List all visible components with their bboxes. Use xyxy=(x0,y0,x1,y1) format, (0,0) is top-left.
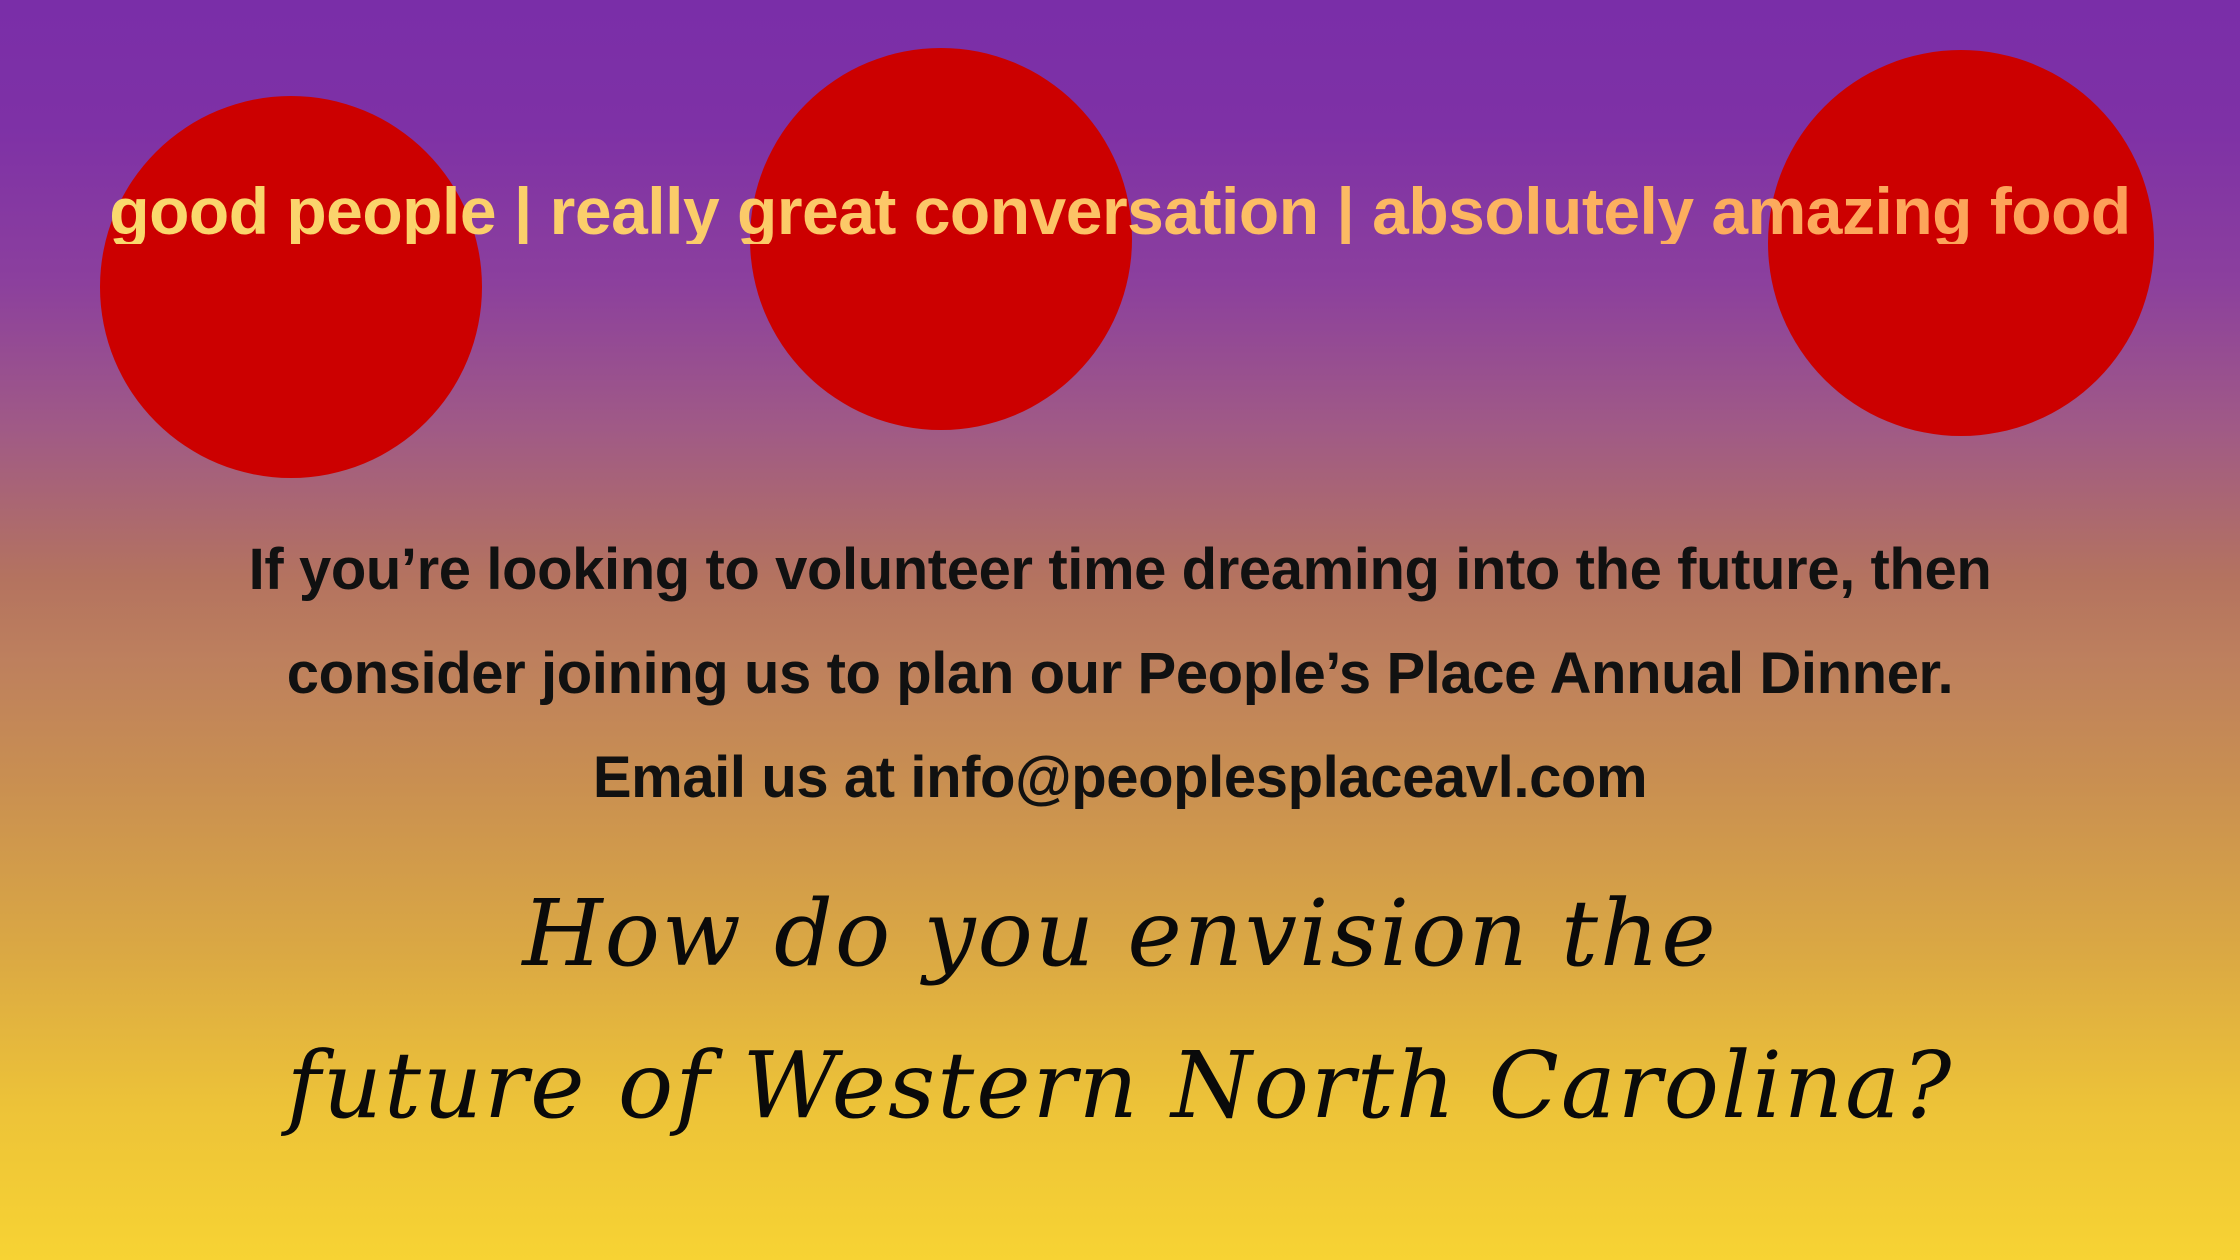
question-line-2: future of Western North Carolina? xyxy=(0,1010,2240,1162)
headline-tagline: good people | really great conversation … xyxy=(0,178,2240,244)
body-line-2: consider joining us to plan our People’s… xyxy=(0,622,2240,726)
question-line-1: How do you envision the xyxy=(0,858,2240,1010)
body-line-3-email: Email us at info@peoplesplaceavl.com xyxy=(0,726,2240,830)
flyer-canvas: good people | really great conversation … xyxy=(0,0,2240,1260)
body-line-1: If you’re looking to volunteer time drea… xyxy=(0,518,2240,622)
body-copy: If you’re looking to volunteer time drea… xyxy=(0,518,2240,830)
red-circle-left xyxy=(100,96,482,478)
question-script: How do you envision the future of Wester… xyxy=(0,858,2240,1162)
